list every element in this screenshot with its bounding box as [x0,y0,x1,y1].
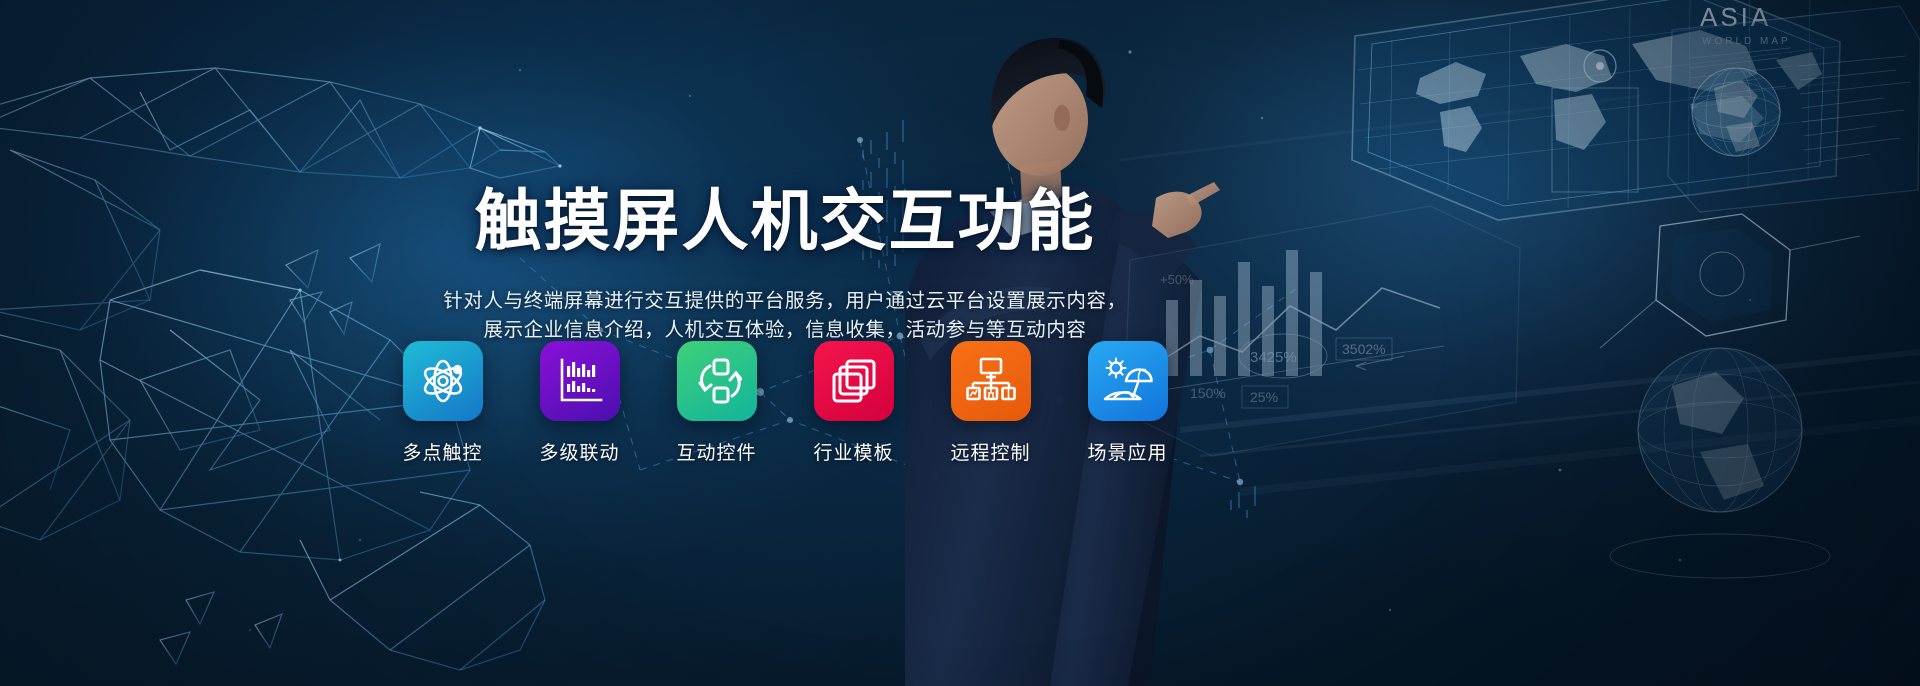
feature-label: 多级联动 [540,443,620,465]
page-title: 触摸屏人机交互功能 [0,186,1570,258]
feature-label: 远程控制 [951,443,1031,465]
beach-sun-icon [1102,357,1154,405]
page-subtitle: 针对人与终端屏幕进行交互提供的平台服务，用户通过云平台设置展示内容， 展示企业信… [0,287,1570,345]
subtitle-line-1: 针对人与终端屏幕进行交互提供的平台服务，用户通过云平台设置展示内容， [0,287,1570,316]
touchscreen-interaction-banner: ASIA WORLD MAP [0,0,1920,686]
feature-label: 场景应用 [1088,443,1168,465]
feature-item-scenario-application[interactable]: 场景应用 [1088,341,1168,465]
sync-blocks-icon-tile[interactable] [677,341,757,421]
feature-item-multi-level-linkage[interactable]: 多级联动 [540,341,620,465]
layers-icon [830,357,878,405]
bar-chart-icon [555,356,605,406]
atom-icon-tile[interactable] [403,341,483,421]
feature-item-multi-touch[interactable]: 多点触控 [403,341,483,465]
sync-blocks-icon [692,356,742,406]
atom-icon [417,355,469,407]
feature-label: 多点触控 [403,443,483,465]
feature-label: 互动控件 [677,443,757,465]
feature-item-industry-templates[interactable]: 行业模板 [814,341,894,465]
feature-icon-row: 多点触控 [0,341,1570,465]
remote-desk-icon-tile[interactable] [951,341,1031,421]
feature-item-remote-control[interactable]: 远程控制 [951,341,1031,465]
layers-icon-tile[interactable] [814,341,894,421]
beach-sun-icon-tile[interactable] [1088,341,1168,421]
remote-desk-icon [966,357,1016,405]
feature-item-interactive-widgets[interactable]: 互动控件 [677,341,757,465]
feature-label: 行业模板 [814,443,894,465]
bar-chart-icon-tile[interactable] [540,341,620,421]
